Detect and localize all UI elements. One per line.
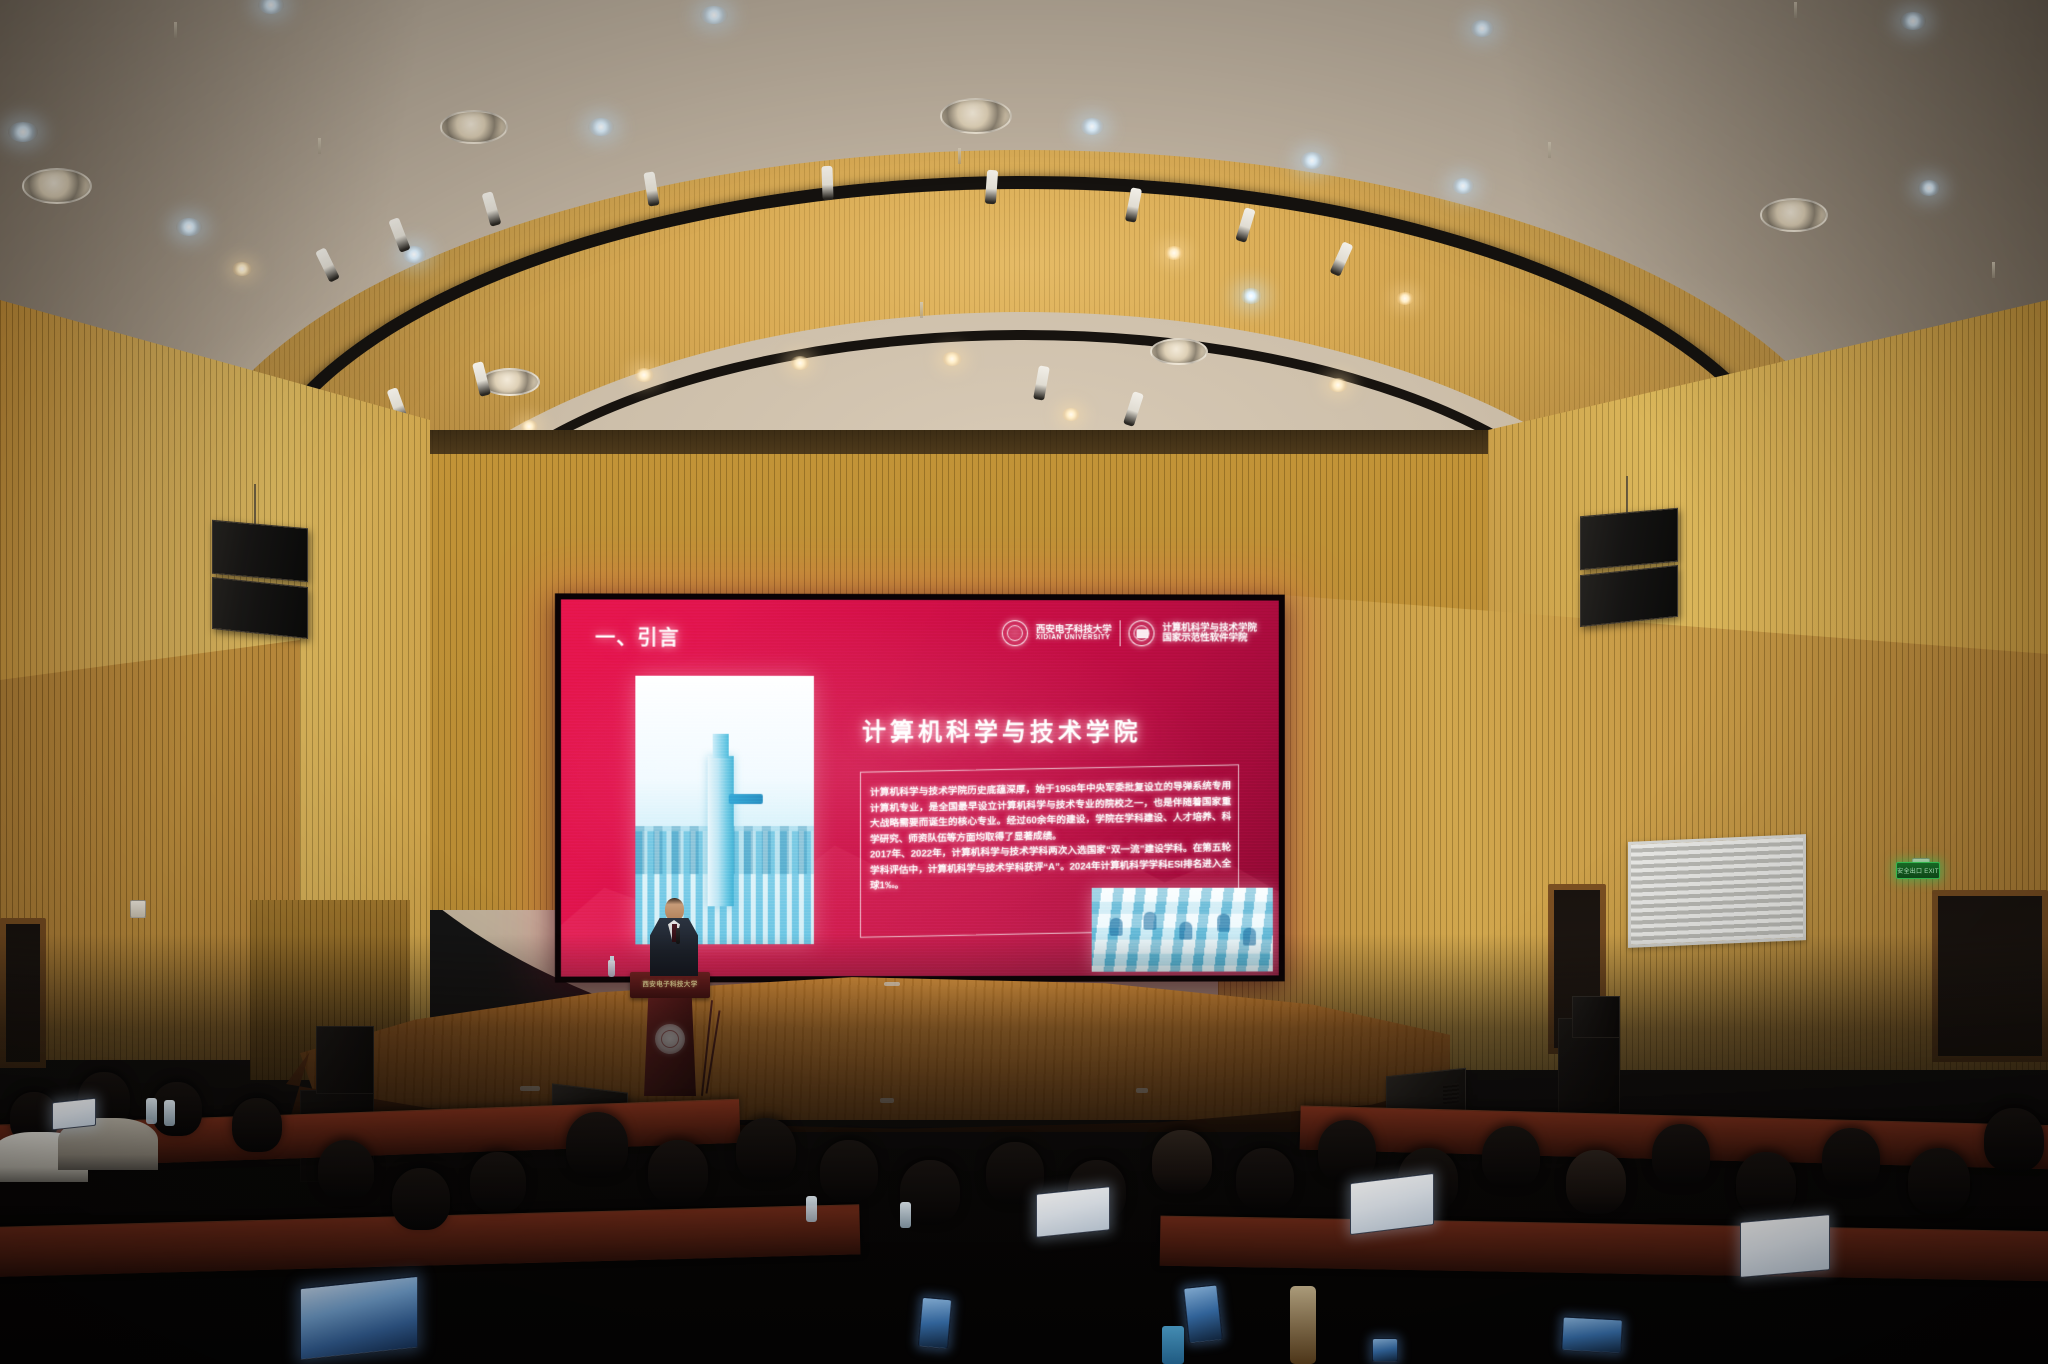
photo-main-tower [708, 756, 734, 906]
laptop-screen[interactable] [1740, 1214, 1830, 1278]
audience-head [820, 1140, 878, 1202]
university-name-en: XIDIAN UNIVERSITY [1036, 635, 1112, 642]
ceiling-downlight [176, 218, 202, 236]
speaker-stack-left [212, 524, 308, 634]
soffit-downlight [1062, 408, 1080, 421]
ceiling-downlight [1080, 118, 1104, 135]
hvac-diffuser [940, 98, 1012, 134]
photo-tower-sign [728, 794, 762, 804]
audience-head [1566, 1150, 1626, 1214]
laptop-screen[interactable] [1036, 1186, 1110, 1238]
soffit-downlight [232, 262, 252, 276]
ceiling-hanger [1548, 142, 1551, 158]
soffit-downlight [634, 368, 654, 382]
water-bottle [146, 1098, 157, 1124]
ceiling-hanger [318, 138, 321, 154]
audience-head [470, 1152, 526, 1212]
soffit-downlight [1328, 378, 1348, 392]
ceiling-hanger [1794, 2, 1797, 18]
loudspeaker [1580, 508, 1678, 571]
smartphone-screen[interactable] [918, 1297, 952, 1349]
soffit-downlight [1396, 292, 1414, 305]
audience-head [152, 1082, 202, 1136]
laptop-screen[interactable] [52, 1098, 96, 1131]
ceiling-downlight [8, 122, 38, 142]
slide-logos: 西安电子科技大学 XIDIAN UNIVERSITY 计算机科学与技术学院 国家… [1002, 620, 1257, 646]
ceiling-downlight [1240, 288, 1262, 304]
smartphone-screen[interactable] [1183, 1284, 1223, 1343]
ceiling-downlight [700, 6, 728, 24]
ceiling-downlight [1470, 20, 1494, 37]
ceiling-hanger [958, 148, 961, 164]
track-spotlight [821, 166, 833, 200]
hvac-wall-grille [1628, 834, 1806, 948]
slide-paragraph-2: 2017年、2022年，计算机科学与技术学科两次入选国家“双一流”建设学科。在第… [870, 841, 1231, 895]
audience-head [1318, 1120, 1376, 1182]
loudspeaker [212, 577, 308, 639]
hvac-diffuser [1760, 198, 1828, 232]
water-bottle [164, 1100, 175, 1126]
slide-paragraph-1: 计算机科学与技术学院历史底蕴深厚，始于1958年中央军委批复设立的导弹系统专用计… [870, 779, 1231, 848]
loudspeaker [1580, 565, 1678, 627]
water-bottle [1162, 1326, 1184, 1364]
audience-head [392, 1168, 450, 1230]
smartphone-screen[interactable] [1561, 1316, 1623, 1353]
soffit-downlight [1164, 246, 1184, 260]
audience-head [1482, 1126, 1540, 1188]
water-bottle [806, 1196, 817, 1222]
audience-head [648, 1140, 708, 1204]
audience-head [1984, 1108, 2044, 1172]
slide-title: 计算机科学与技术学院 [862, 712, 1142, 747]
ceiling-downlight [1918, 180, 1940, 196]
audience-head [318, 1140, 374, 1200]
audience-head [1652, 1124, 1710, 1186]
exit-sign: 安全出口 EXIT [1896, 862, 1940, 879]
audience-head [1908, 1148, 1970, 1214]
slide-section-header: 一、引言 [595, 622, 679, 651]
ceiling-hanger [920, 302, 923, 318]
ceiling-downlight [1900, 12, 1926, 30]
exit-sign-label: 安全出口 EXIT [1897, 866, 1939, 875]
school-name-line2: 国家示范性软件学院 [1162, 633, 1257, 643]
ceiling-hanger [174, 22, 177, 38]
presenter-head [665, 898, 684, 921]
hvac-diffuser [22, 168, 92, 204]
ceiling-downlight [1300, 152, 1324, 169]
audience-head [736, 1118, 796, 1182]
smartphone-screen[interactable] [1372, 1338, 1398, 1362]
audience-head [1236, 1148, 1294, 1210]
ceiling-downlight [588, 118, 614, 136]
laptop-screen[interactable] [1350, 1173, 1434, 1235]
photo-lab-person [1144, 912, 1157, 930]
photo-lab-person [1217, 914, 1230, 932]
school-seal-icon [1129, 620, 1155, 646]
audience-head [1736, 1152, 1796, 1216]
ceiling-hanger [1992, 262, 1995, 278]
hvac-diffuser [1150, 338, 1208, 365]
tablet-screen[interactable] [300, 1276, 418, 1360]
wall-outlet-plate [130, 900, 146, 918]
logo-divider [1120, 620, 1121, 646]
soffit-downlight [942, 352, 962, 366]
speaker-stack-right [1580, 512, 1678, 622]
audience-head [1822, 1128, 1880, 1190]
loudspeaker [212, 520, 308, 582]
hvac-diffuser [440, 110, 508, 144]
audience-head [232, 1098, 282, 1152]
university-seal-icon [1002, 620, 1028, 646]
audience-head [1152, 1130, 1212, 1194]
auditorium-scene: 安全出口 EXIT 一、引言 西安电子科技大学 XIDIAN UNIVERSIT… [0, 0, 2048, 1364]
water-bottle [900, 1202, 911, 1228]
audience-head [566, 1112, 628, 1178]
soffit-downlight [790, 356, 810, 370]
track-spotlight [985, 170, 998, 205]
thermos-bottle [1290, 1286, 1316, 1364]
slide-body-text: 计算机科学与技术学院历史底蕴深厚，始于1958年中央军委批复设立的导弹系统专用计… [870, 779, 1231, 895]
ceiling-downlight [1452, 178, 1474, 194]
